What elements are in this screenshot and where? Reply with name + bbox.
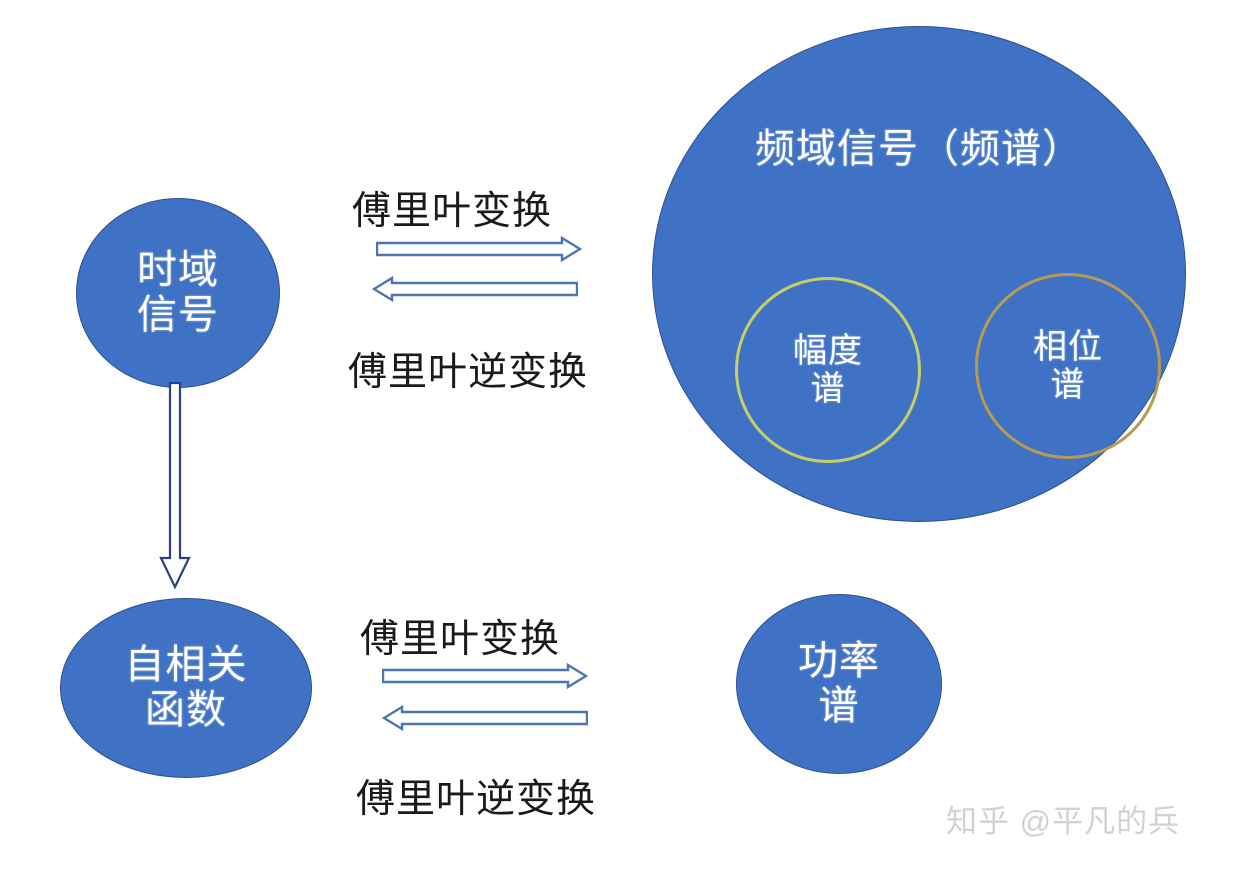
node-autocorrelation-line2: 函数 [145,688,227,733]
node-frequency-domain-signal[interactable]: 频域信号（频谱） 幅度 谱 相位 谱 [652,26,1186,522]
arrow-right-fourier-transform-bottom [382,663,588,689]
node-amplitude-spectrum[interactable]: 幅度 谱 [735,277,921,463]
node-phase-spectrum-line1: 相位 [1033,328,1103,366]
node-autocorrelation-function[interactable]: 自相关 函数 [60,598,312,778]
node-amplitude-spectrum-line2: 谱 [811,370,846,408]
diagram-canvas: 时域 信号 自相关 函数 功率 谱 频域信号（频谱） 幅度 谱 相位 谱 傅里叶… [0,0,1248,870]
node-power-spectrum-line2: 谱 [819,684,860,729]
node-phase-spectrum-line2: 谱 [1051,366,1086,404]
label-inverse-fourier-transform-top: 傅里叶逆变换 [348,341,588,397]
node-frequency-domain-title: 频域信号（频谱） [755,127,1083,172]
node-autocorrelation-line1: 自相关 [125,643,248,688]
label-inverse-fourier-transform-bottom: 傅里叶逆变换 [356,768,596,824]
node-time-domain-line2: 信号 [137,293,219,338]
arrow-right-fourier-transform-top [376,236,582,262]
watermark-zhihu: 知乎 @平凡的兵 [946,796,1180,841]
label-fourier-transform-top: 傅里叶变换 [352,180,552,236]
arrow-down-time-domain-to-autocorrelation [158,382,192,590]
arrow-left-inverse-fourier-transform-top [372,276,578,302]
node-power-spectrum[interactable]: 功率 谱 [736,594,942,774]
arrow-left-inverse-fourier-transform-bottom [382,705,588,731]
node-power-spectrum-line1: 功率 [798,639,880,684]
node-amplitude-spectrum-line1: 幅度 [793,332,863,370]
node-time-domain-line1: 时域 [137,248,219,293]
node-time-domain-signal[interactable]: 时域 信号 [76,198,280,388]
label-fourier-transform-bottom: 傅里叶变换 [360,608,560,664]
node-phase-spectrum[interactable]: 相位 谱 [975,273,1161,459]
